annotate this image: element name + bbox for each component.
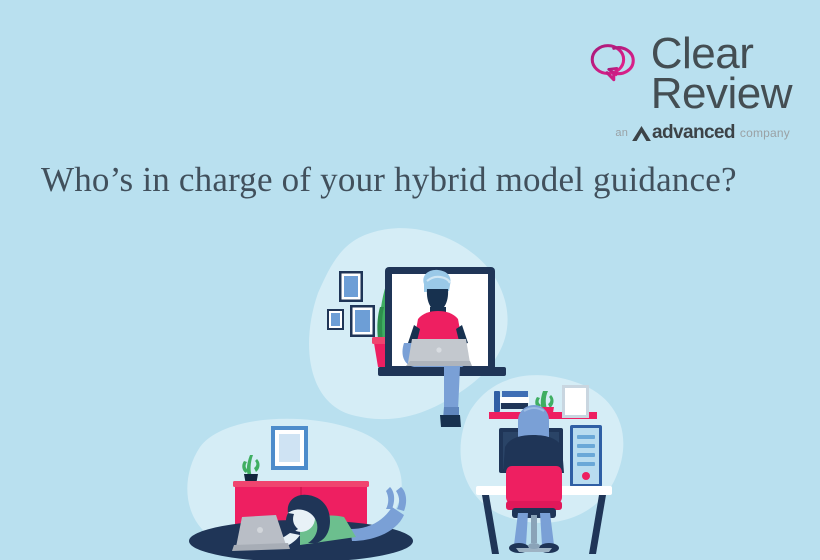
- logo-primary-row: Clear Review: [589, 34, 792, 115]
- logo-tagline: an advanced company: [615, 122, 790, 144]
- logo-line-2: Review: [651, 74, 792, 114]
- tagline-prefix: an: [615, 127, 628, 139]
- shelf-picture-frame: [562, 385, 589, 418]
- clear-review-logo[interactable]: Clear Review an advanced company: [589, 34, 792, 144]
- advanced-label: advanced: [652, 122, 735, 144]
- page-title: Who’s in charge of your hybrid model gui…: [41, 160, 790, 200]
- logo-wordmark: Clear Review: [651, 34, 792, 115]
- wall-frame-floor: [271, 426, 308, 470]
- hybrid-working-illustration: [0, 215, 820, 560]
- triangle-icon: [632, 125, 651, 140]
- tagline-suffix: company: [740, 126, 790, 140]
- advanced-brand: advanced: [632, 122, 735, 144]
- pc-tower: [570, 425, 602, 487]
- logo-line-1: Clear: [651, 34, 792, 74]
- speech-bubbles-icon: [589, 38, 643, 90]
- poster-canvas: Clear Review an advanced company Who’s i…: [0, 0, 820, 560]
